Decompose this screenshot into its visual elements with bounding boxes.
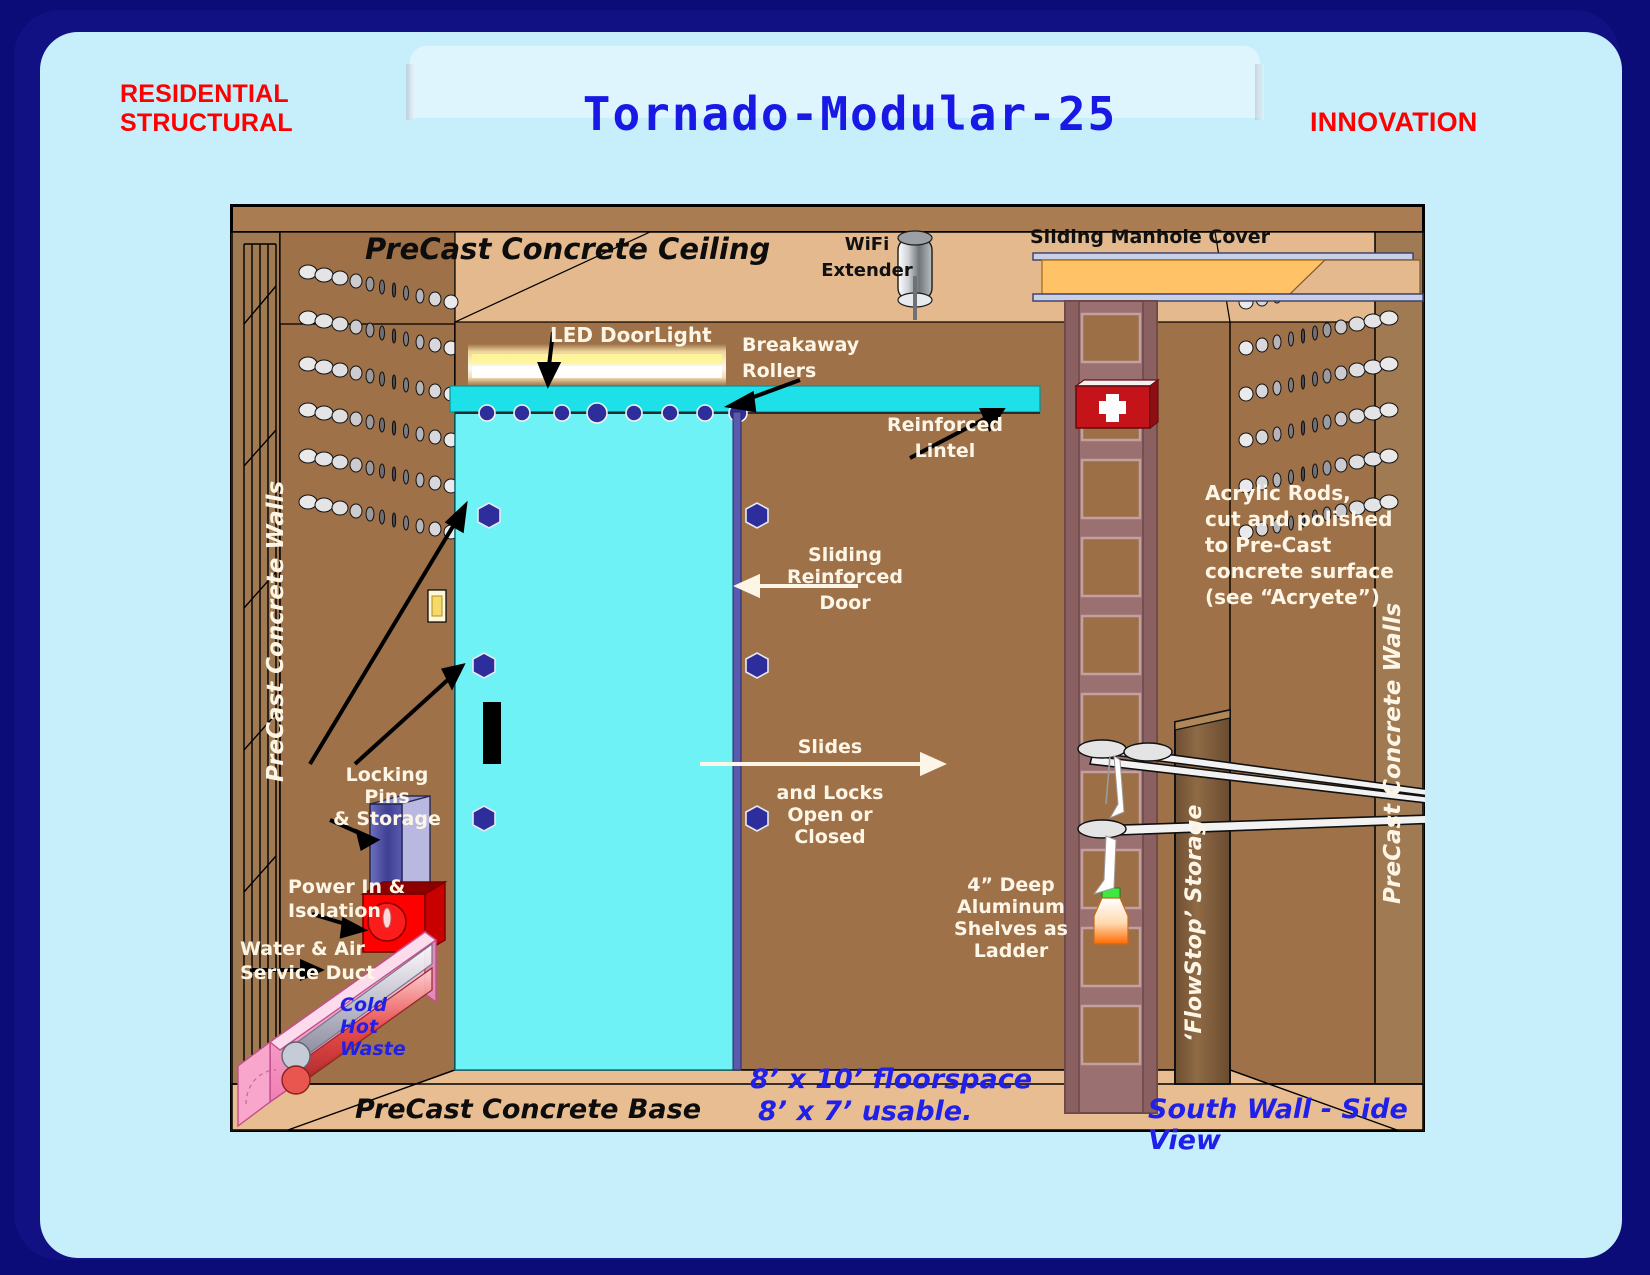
wall-label-left: PreCast Concrete Walls: [263, 422, 289, 782]
breakaway-rollers-label-line2: Rollers: [742, 360, 892, 382]
shelves-label-line1: 4” Deep: [946, 874, 1076, 896]
shelves-label-line3: Shelves as: [946, 918, 1076, 940]
view-label: South Wall - Side View: [1148, 1094, 1425, 1156]
floorspace-line2: 8’ x 7’ usable.: [758, 1096, 972, 1127]
reinforced-lintel-label-line2: Lintel: [870, 440, 1020, 462]
shelves-label-line2: Aluminum: [946, 896, 1076, 918]
slides-label-line1: Slides: [755, 736, 905, 758]
page-title: Tornado-Modular-25: [500, 87, 1200, 141]
ceiling-label: PreCast Concrete Ceiling: [365, 232, 770, 266]
wifi-extender-label-line2: Extender: [808, 260, 926, 281]
manhole-cover-label: Sliding Manhole Cover: [1030, 226, 1330, 248]
poster-sheet: RESIDENTIAL STRUCTURAL Tornado-Modular-2…: [40, 32, 1622, 1258]
header-left: RESIDENTIAL STRUCTURAL: [120, 80, 293, 138]
shelves-label-line4: Ladder: [946, 940, 1076, 962]
header-left-line1: RESIDENTIAL: [120, 80, 293, 109]
base-label: PreCast Concrete Base: [355, 1094, 701, 1125]
pipe-cold-label: Cold: [340, 994, 387, 1016]
acrylic-rods-label-line2: cut and polished: [1205, 508, 1420, 532]
flowstop-storage-label: ‘FlowStop’ Storage: [1182, 712, 1207, 1042]
pipe-hot-label: Hot: [340, 1016, 378, 1038]
breakaway-rollers-label-line1: Breakaway: [742, 334, 892, 356]
poster-outer-frame: RESIDENTIAL STRUCTURAL Tornado-Modular-2…: [14, 10, 1620, 1260]
wifi-extender-label-line1: WiFi: [822, 234, 912, 255]
power-isolation-label-line2: Isolation: [288, 900, 448, 922]
acrylic-rods-label-line1: Acrylic Rods,: [1205, 482, 1420, 506]
poster-page: RESIDENTIAL STRUCTURAL Tornado-Modular-2…: [0, 0, 1650, 1275]
service-duct-label-line1: Water & Air: [240, 938, 420, 960]
sliding-door-label-line1: Sliding: [770, 544, 920, 566]
locking-pins-label-line2: Pins: [322, 786, 452, 808]
locking-pins-label-line3: & Storage: [322, 808, 452, 830]
locking-pins-label-line1: Locking: [322, 764, 452, 786]
service-duct-label-line2: Service Duct: [240, 962, 420, 984]
sliding-door-label-line3: Door: [770, 592, 920, 614]
slides-label-line4: Closed: [755, 826, 905, 848]
bunker-cutaway-diagram: PreCast Concrete Ceiling WiFi Extender S…: [230, 204, 1425, 1132]
floorspace-line1: 8’ x 10’ floorspace: [750, 1064, 1032, 1095]
power-isolation-label-line1: Power In &: [288, 876, 448, 898]
sliding-door-label-line2: Reinforced: [760, 566, 930, 588]
pipe-waste-label: Waste: [340, 1038, 406, 1060]
wall-label-right: PreCast Concrete Walls: [1380, 544, 1406, 904]
slides-label-line2: and Locks: [755, 782, 905, 804]
header-right: INNOVATION: [1310, 108, 1478, 137]
slides-label-line3: Open or: [755, 804, 905, 826]
reinforced-lintel-label-line1: Reinforced: [870, 414, 1020, 436]
header-left-line2: STRUCTURAL: [120, 109, 293, 138]
